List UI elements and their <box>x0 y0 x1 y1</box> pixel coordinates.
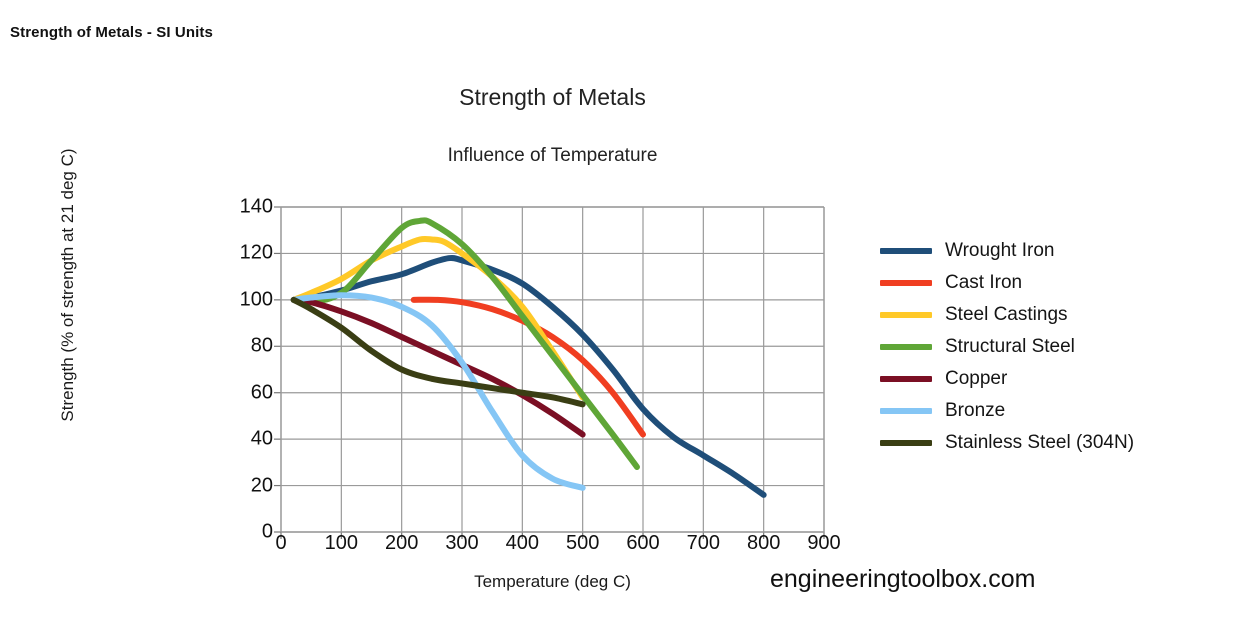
legend-color-swatch <box>880 280 932 286</box>
y-tick-label: 60 <box>213 381 273 404</box>
legend-item-label: Stainless Steel (304N) <box>945 432 1134 454</box>
legend-item-label: Copper <box>945 368 1007 390</box>
legend-color-swatch <box>880 344 932 350</box>
legend-item-label: Steel Castings <box>945 304 1068 326</box>
y-tick-label: 20 <box>213 474 273 497</box>
chart-legend: Wrought IronCast IronSteel CastingsStruc… <box>880 235 1210 459</box>
series-line-copper <box>294 300 583 435</box>
y-tick-label: 140 <box>213 196 273 219</box>
axis-tick-marks <box>274 207 824 539</box>
legend-color-swatch <box>880 408 932 414</box>
legend-color-swatch <box>880 440 932 446</box>
legend-item[interactable]: Stainless Steel (304N) <box>880 427 1210 459</box>
legend-item-label: Bronze <box>945 400 1005 422</box>
watermark: engineeringtoolbox.com <box>770 565 1035 594</box>
legend-color-swatch <box>880 376 932 382</box>
legend-color-swatch <box>880 248 932 254</box>
legend-item-label: Structural Steel <box>945 336 1075 358</box>
legend-item[interactable]: Cast Iron <box>880 267 1210 299</box>
legend-item[interactable]: Copper <box>880 363 1210 395</box>
legend-item-label: Cast Iron <box>945 272 1022 294</box>
x-axis-label: Temperature (deg C) <box>281 572 824 592</box>
legend-item[interactable]: Bronze <box>880 395 1210 427</box>
y-tick-label: 80 <box>213 335 273 358</box>
legend-item[interactable]: Structural Steel <box>880 331 1210 363</box>
y-tick-label: 100 <box>213 288 273 311</box>
page-title: Strength of Metals - SI Units <box>10 24 213 41</box>
chart-figure: Strength of Metals Influence of Temperat… <box>0 60 1238 638</box>
legend-item-label: Wrought Iron <box>945 240 1054 262</box>
legend-item[interactable]: Steel Castings <box>880 299 1210 331</box>
data-series-group <box>294 220 764 495</box>
y-tick-label: 40 <box>213 428 273 451</box>
x-tick-label: 900 <box>789 532 859 555</box>
x-axis-ticks: 0100200300400500600700800900 <box>0 532 1238 562</box>
y-tick-label: 120 <box>213 242 273 265</box>
legend-item[interactable]: Wrought Iron <box>880 235 1210 267</box>
legend-color-swatch <box>880 312 932 318</box>
y-axis-label: Strength (% of strength at 21 deg C) <box>58 125 78 445</box>
